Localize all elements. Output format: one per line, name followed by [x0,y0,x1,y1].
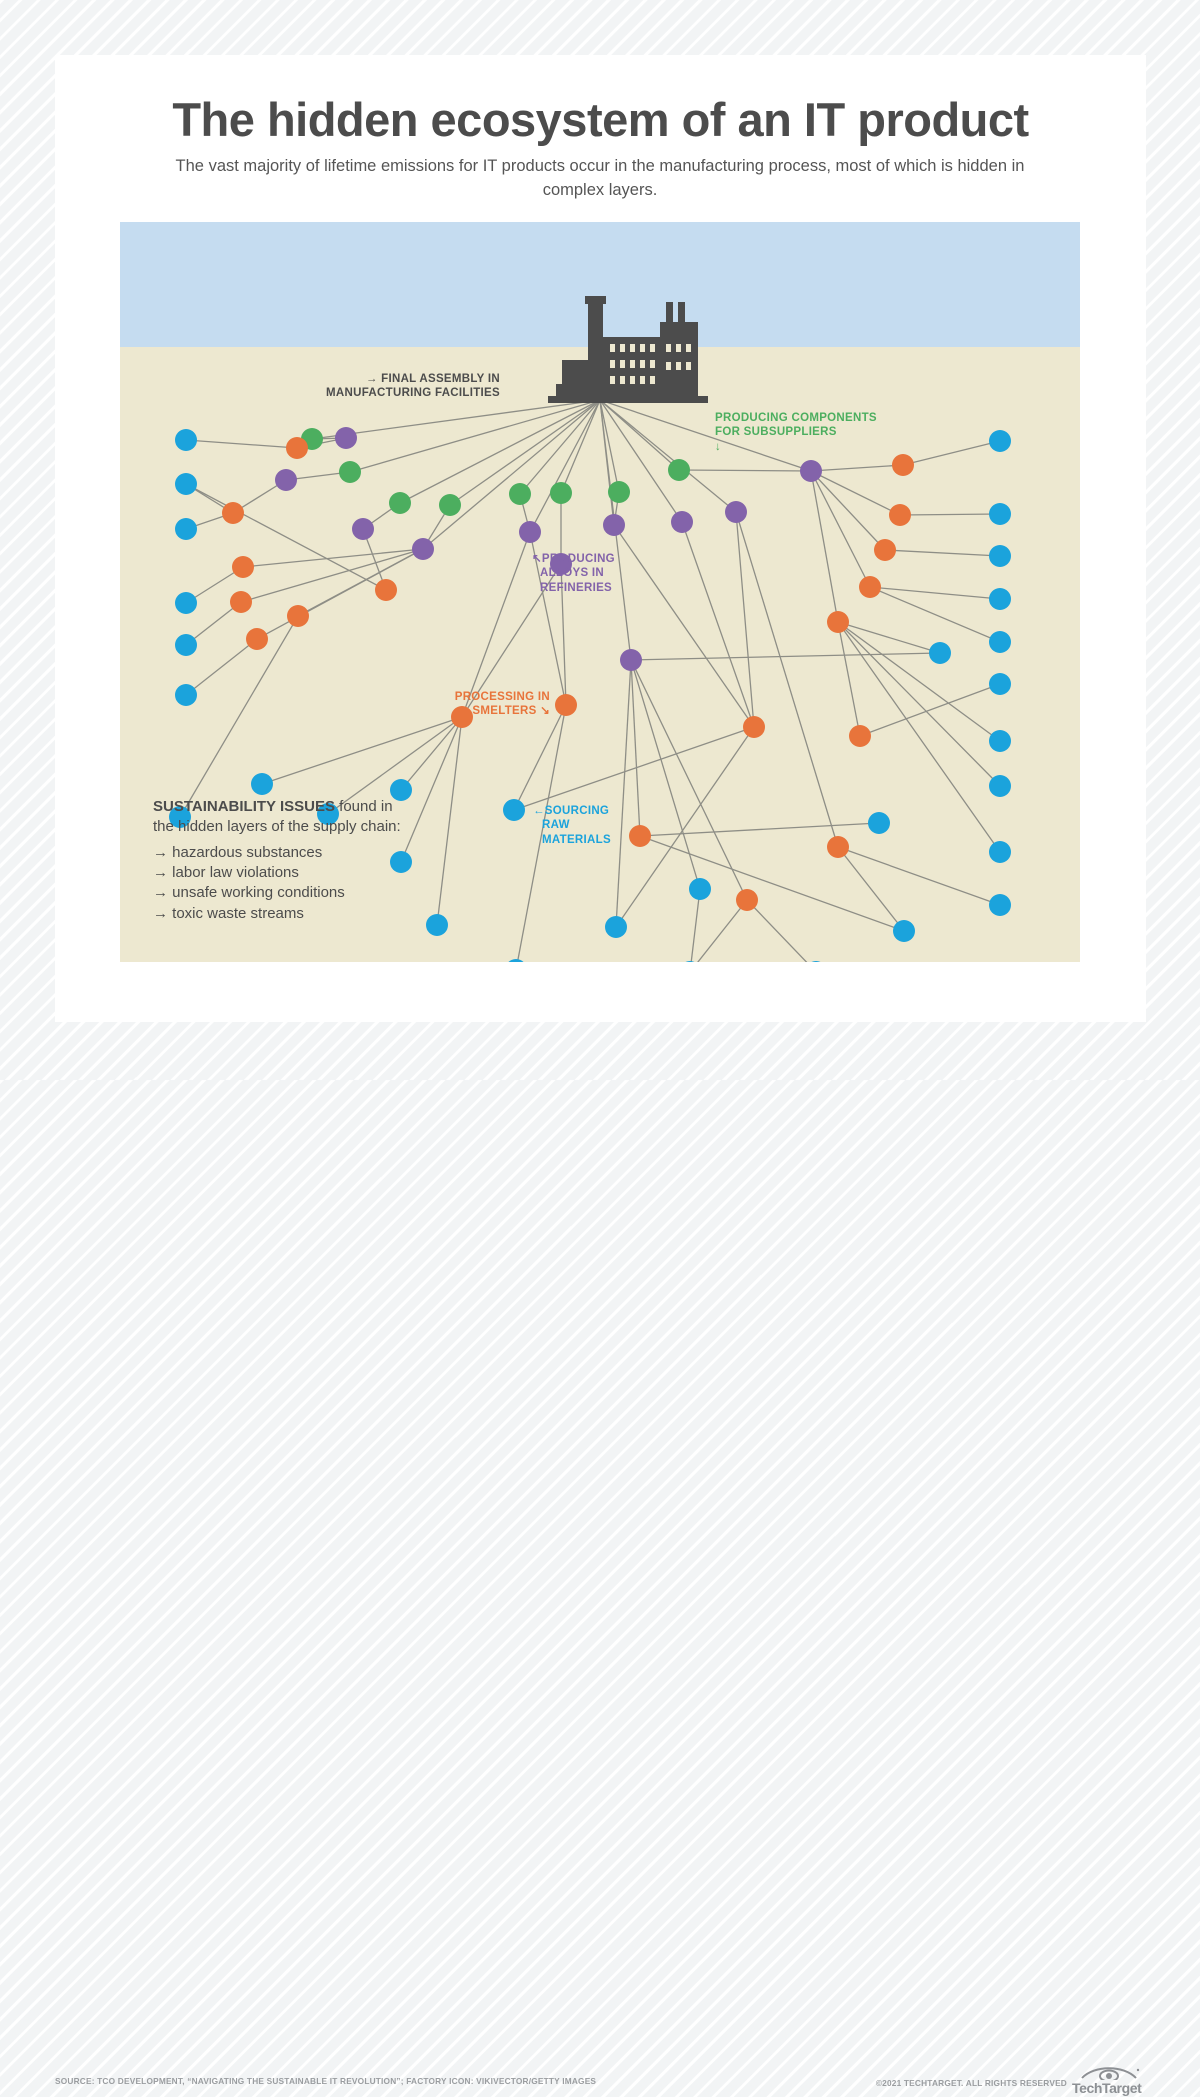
network-edge [186,440,297,448]
network-node-blue [929,642,951,664]
network-edge [736,512,838,847]
network-node-purple [620,649,642,671]
network-node-blue [175,634,197,656]
network-node-green [439,494,461,516]
network-edge [682,522,754,727]
network-node-green [668,459,690,481]
network-edge [811,471,838,622]
network-node-purple [352,518,374,540]
network-node-blue [989,841,1011,863]
network-node-blue [503,799,525,821]
network-node-orange [874,539,896,561]
network-edge [747,900,816,962]
network-node-blue [989,588,1011,610]
network-edge [838,847,1000,905]
network-edge [900,514,1000,515]
network-edge [514,727,754,810]
network-node-orange [859,576,881,598]
network-edge [838,622,860,736]
infographic-card: The hidden ecosystem of an IT product Th… [55,55,1146,1022]
network-edge [811,471,900,515]
sustainability-issue-item: → toxic waste streams [153,904,403,924]
network-node-green [608,481,630,503]
network-edge [640,823,879,836]
network-node-blue [989,673,1011,695]
network-node-orange [287,605,309,627]
network-edge [631,660,747,900]
network-node-orange [222,502,244,524]
factory-icon [548,296,708,403]
sustainability-issue-item: → labor law violations [153,863,403,883]
bullet-arrow-icon: → [153,905,172,922]
network-node-green [389,492,411,514]
sustainability-issue-label: unsafe working conditions [172,884,345,901]
sustainability-heading: SUSTAINABILITY ISSUES found in the hidde… [153,797,403,837]
network-node-orange [232,556,254,578]
network-edge [885,550,1000,556]
network-edge [690,900,747,962]
network-node-orange [827,611,849,633]
network-node-orange [230,591,252,613]
page-title: The hidden ecosystem of an IT product [55,95,1146,144]
network-node-blue [175,473,197,495]
network-edge [631,653,940,660]
diagram-canvas: → FINAL ASSEMBLY IN MANUFACTURING FACILI… [120,222,1080,962]
network-node-purple [603,514,625,536]
network-edge [401,717,462,790]
network-node-orange [743,716,765,738]
network-node-orange [849,725,871,747]
techtarget-logo: TechTarget [1072,2067,1148,2097]
network-edge [690,889,700,962]
network-node-blue [989,894,1011,916]
network-node-purple [800,460,822,482]
network-node-blue [426,914,448,936]
techtarget-wordmark: TechTarget [1072,2080,1141,2096]
eye-icon [1080,2066,1142,2080]
network-node-orange [827,836,849,858]
network-node-blue [989,631,1011,653]
network-edge [736,512,754,727]
network-node-blue [989,503,1011,525]
network-node-blue [989,430,1011,452]
network-edge [530,400,600,532]
network-edge [614,525,754,727]
network-edge [838,622,1000,741]
sustainability-issues-block: SUSTAINABILITY ISSUES found in the hidde… [153,797,403,924]
network-edge [811,465,903,471]
network-edge [679,470,811,471]
sustainability-issue-label: labor law violations [172,864,299,881]
network-edge [811,471,870,587]
network-edge [423,400,600,549]
network-node-blue [893,920,915,942]
network-node-orange [629,825,651,847]
network-edge [903,441,1000,465]
sustainability-issue-item: → hazardous substances [153,843,403,863]
network-node-green [339,461,361,483]
network-node-orange [286,437,308,459]
network-node-orange [555,694,577,716]
sustainability-issues-list: → hazardous substances→ labor law violat… [153,843,403,924]
network-node-blue [175,592,197,614]
network-node-blue [605,916,627,938]
network-edge [870,587,1000,599]
network-edge [870,587,1000,642]
sustainability-issue-item: → unsafe working conditions [153,883,403,903]
sustainability-heading-bold: SUSTAINABILITY ISSUES [153,798,335,815]
network-node-orange [246,628,268,650]
network-node-blue [251,773,273,795]
network-node-purple [412,538,434,560]
network-edge [811,471,885,550]
network-node-blue [989,545,1011,567]
label-processing-smelters: PROCESSING IN SMELTERS ↘ [390,690,550,719]
footer: SOURCE: TCO DEVELOPMENT, “NAVIGATING THE… [0,1032,1200,1062]
network-node-purple [275,469,297,491]
network-edge [350,400,600,472]
label-sourcing-raw-materials: ←SOURCING RAW MATERIALS [533,804,611,847]
sustainability-issue-label: hazardous substances [172,844,322,861]
network-node-green [509,483,531,505]
bullet-arrow-icon: → [153,884,172,901]
network-node-blue [505,959,527,962]
network-node-green [550,482,572,504]
copyright-note: ©2021 TECHTARGET. ALL RIGHTS RESERVED [876,2078,1067,2088]
sustainability-issue-label: toxic waste streams [172,905,304,922]
page-subtitle: The vast majority of lifetime emissions … [150,155,1050,203]
network-node-blue [868,812,890,834]
network-node-blue [175,518,197,540]
network-edge [180,616,298,817]
bullet-arrow-icon: → [153,844,172,861]
network-node-blue [989,775,1011,797]
network-node-purple [335,427,357,449]
network-node-orange [736,889,758,911]
network-node-orange [375,579,397,601]
network-node-blue [689,878,711,900]
network-edge [838,847,904,931]
network-node-blue [175,684,197,706]
source-note: SOURCE: TCO DEVELOPMENT, “NAVIGATING THE… [55,2076,596,2086]
network-edge [616,660,631,927]
network-edge [860,684,1000,736]
network-node-purple [725,501,747,523]
network-edge [640,836,904,931]
network-node-purple [671,511,693,533]
network-edge [262,717,462,784]
network-node-orange [889,504,911,526]
network-node-orange [892,454,914,476]
label-producing-alloys: ↖PRODUCING ALLOYS IN REFINERIES [532,552,615,595]
network-node-purple [519,521,541,543]
label-producing-components: PRODUCING COMPONENTS FOR SUBSUPPLIERS ↓ [715,411,877,454]
network-node-blue [805,961,827,962]
bullet-arrow-icon: → [153,864,172,881]
label-final-assembly: → FINAL ASSEMBLY IN MANUFACTURING FACILI… [320,372,500,401]
network-node-blue [989,730,1011,752]
network-node-blue [175,429,197,451]
